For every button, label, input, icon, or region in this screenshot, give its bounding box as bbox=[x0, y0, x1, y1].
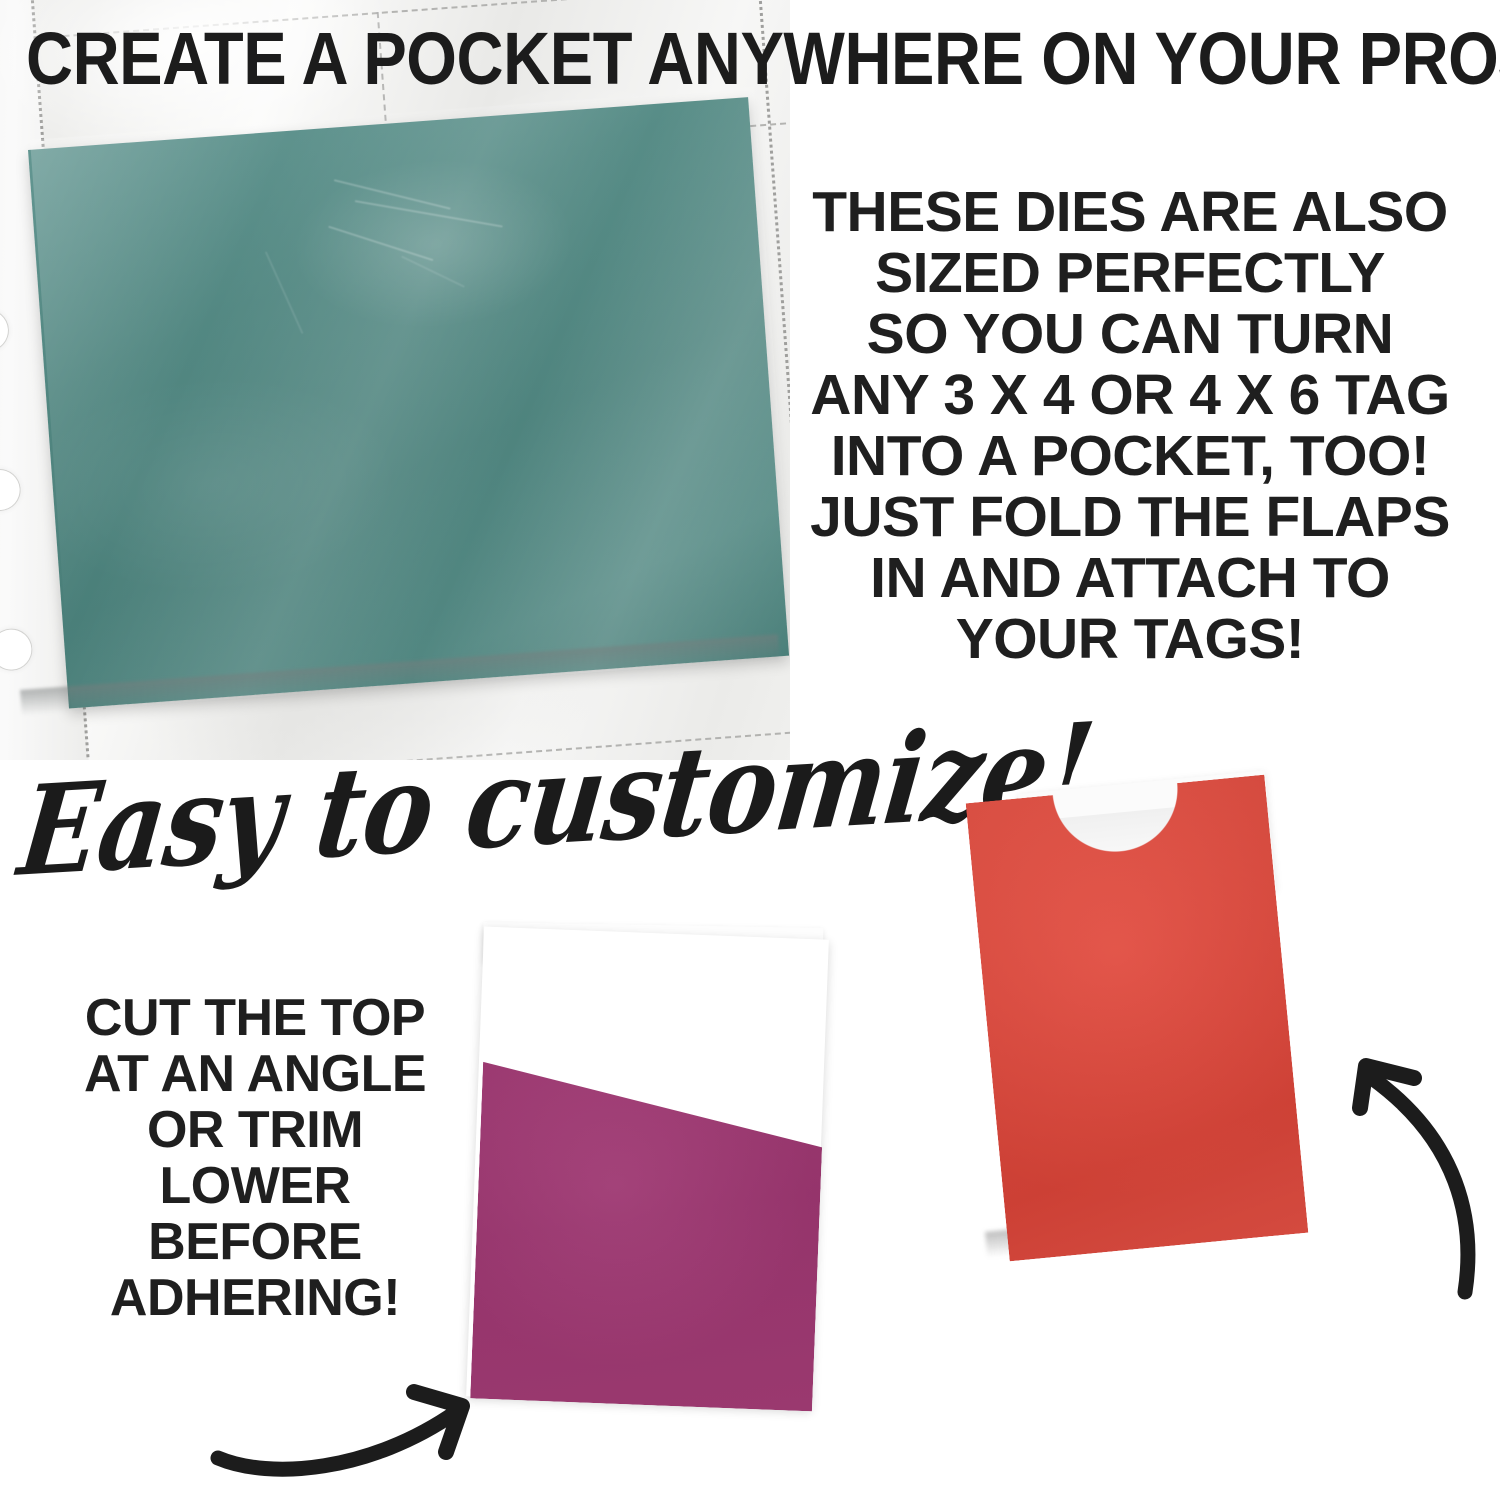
right-instruction-block: THESE DIES ARE ALSO SIZED PERFECTLY SO Y… bbox=[770, 182, 1490, 670]
left-copy-line: CUT THE TOP bbox=[30, 990, 480, 1046]
teal-cardstock-insert bbox=[28, 97, 789, 708]
right-copy-line: SO YOU CAN TURN bbox=[770, 304, 1490, 365]
right-copy-line: THESE DIES ARE ALSO bbox=[770, 182, 1490, 243]
poster-canvas: CREATE A POCKET ANYWHERE ON YOUR PROJECT… bbox=[0, 0, 1500, 1500]
left-copy-line: ADHERING! bbox=[30, 1270, 480, 1326]
red-pocket-card bbox=[966, 775, 1309, 1262]
right-copy-line: YOUR TAGS! bbox=[770, 609, 1490, 670]
right-copy-line: IN AND ATTACH TO bbox=[770, 548, 1490, 609]
curved-arrow-right-icon bbox=[200, 1330, 540, 1500]
photo-red-notched-pocket bbox=[945, 770, 1355, 1330]
binder-hole bbox=[0, 468, 22, 513]
binder-hole bbox=[0, 308, 10, 353]
right-copy-line: JUST FOLD THE FLAPS bbox=[770, 487, 1490, 548]
right-copy-line: INTO A POCKET, TOO! bbox=[770, 426, 1490, 487]
curved-arrow-up-left-icon bbox=[1330, 1020, 1500, 1320]
page-headline: CREATE A POCKET ANYWHERE ON YOUR PROJECT… bbox=[26, 22, 1307, 96]
left-copy-line: BEFORE bbox=[30, 1214, 480, 1270]
right-copy-line: ANY 3 X 4 OR 4 X 6 TAG bbox=[770, 365, 1490, 426]
binder-hole bbox=[0, 627, 34, 672]
left-copy-line: LOWER bbox=[30, 1158, 480, 1214]
left-instruction-block: CUT THE TOP AT AN ANGLE OR TRIM LOWER BE… bbox=[30, 990, 480, 1326]
photo-teal-card-in-sleeve bbox=[0, 0, 790, 760]
left-copy-line: AT AN ANGLE bbox=[30, 1046, 480, 1102]
left-copy-line: OR TRIM bbox=[30, 1102, 480, 1158]
right-copy-line: SIZED PERFECTLY bbox=[770, 243, 1490, 304]
